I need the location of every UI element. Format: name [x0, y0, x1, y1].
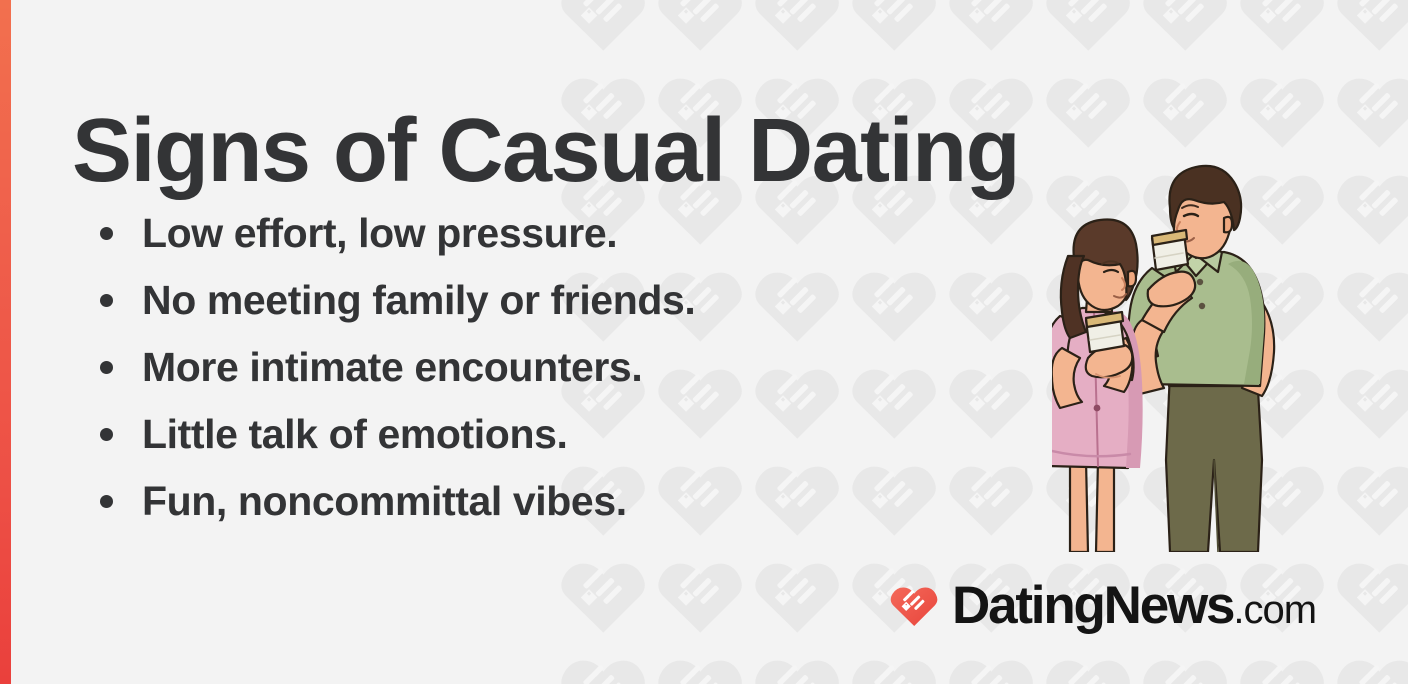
heart-logo-watermark: [851, 455, 937, 541]
couple-drinking-coffee-illustration: [1052, 160, 1300, 552]
heart-logo-watermark: [1336, 649, 1408, 684]
heart-logo-watermark: [851, 0, 937, 56]
heart-logo-watermark: [948, 358, 1034, 444]
heart-logo-watermark: [657, 649, 743, 684]
heart-logo-watermark: [1336, 261, 1408, 347]
heart-logo-icon: [890, 583, 938, 627]
bullet-marker-icon: [100, 495, 113, 508]
heart-logo-watermark: [754, 455, 840, 541]
heart-logo-watermark: [851, 261, 937, 347]
bullet-marker-icon: [100, 361, 113, 374]
heart-logo-watermark: [1045, 67, 1131, 153]
heart-logo-watermark: [948, 455, 1034, 541]
heart-logo-watermark: [1336, 67, 1408, 153]
heart-logo-watermark: [754, 552, 840, 638]
heart-logo-watermark: [560, 0, 646, 56]
heart-logo-watermark: [560, 552, 646, 638]
heart-logo-watermark: [1239, 67, 1325, 153]
heart-logo-watermark: [1336, 164, 1408, 250]
heart-logo-watermark: [1336, 552, 1408, 638]
heart-logo-watermark: [948, 0, 1034, 56]
heart-logo-watermark: [657, 552, 743, 638]
bullet-marker-icon: [100, 294, 113, 307]
heart-logo-watermark: [1239, 0, 1325, 56]
heart-logo-watermark: [754, 261, 840, 347]
heart-logo-watermark: [1045, 649, 1131, 684]
infographic-canvas: Signs of Casual Dating Low effort, low p…: [0, 0, 1408, 684]
heart-logo-watermark: [1336, 455, 1408, 541]
list-item-label: Fun, noncommittal vibes.: [142, 481, 627, 522]
list-item-label: No meeting family or friends.: [142, 280, 695, 321]
heart-logo-watermark: [1142, 67, 1228, 153]
heart-logo-watermark: [1336, 0, 1408, 56]
page-title: Signs of Casual Dating: [72, 106, 1019, 196]
heart-logo-watermark: [657, 0, 743, 56]
list-item: Fun, noncommittal vibes.: [100, 468, 695, 535]
heart-logo-watermark: [1045, 0, 1131, 56]
list-item: More intimate encounters.: [100, 334, 695, 401]
heart-logo-watermark: [1142, 649, 1228, 684]
brand-tld: .com: [1233, 590, 1316, 630]
heart-logo-watermark: [754, 358, 840, 444]
bullet-marker-icon: [100, 428, 113, 441]
heart-logo-watermark: [851, 358, 937, 444]
brand-wordmark: DatingNews .com: [952, 579, 1316, 632]
heart-logo-watermark: [948, 649, 1034, 684]
brand-logo[interactable]: DatingNews .com: [890, 578, 1316, 632]
heart-logo-watermark: [851, 649, 937, 684]
heart-logo-watermark: [948, 261, 1034, 347]
heart-logo-watermark: [754, 649, 840, 684]
list-item-label: More intimate encounters.: [142, 347, 642, 388]
signs-list: Low effort, low pressure. No meeting fam…: [100, 200, 695, 535]
heart-logo-watermark: [560, 649, 646, 684]
list-item: Low effort, low pressure.: [100, 200, 695, 267]
list-item: No meeting family or friends.: [100, 267, 695, 334]
heart-logo-watermark: [1142, 0, 1228, 56]
heart-logo-watermark: [754, 0, 840, 56]
heart-logo-watermark: [1336, 358, 1408, 444]
brand-name: DatingNews: [952, 579, 1233, 632]
bullet-marker-icon: [100, 227, 113, 240]
list-item-label: Low effort, low pressure.: [142, 213, 617, 254]
list-item-label: Little talk of emotions.: [142, 414, 568, 455]
list-item: Little talk of emotions.: [100, 401, 695, 468]
left-accent-bar: [0, 0, 11, 684]
heart-logo-watermark: [1239, 649, 1325, 684]
